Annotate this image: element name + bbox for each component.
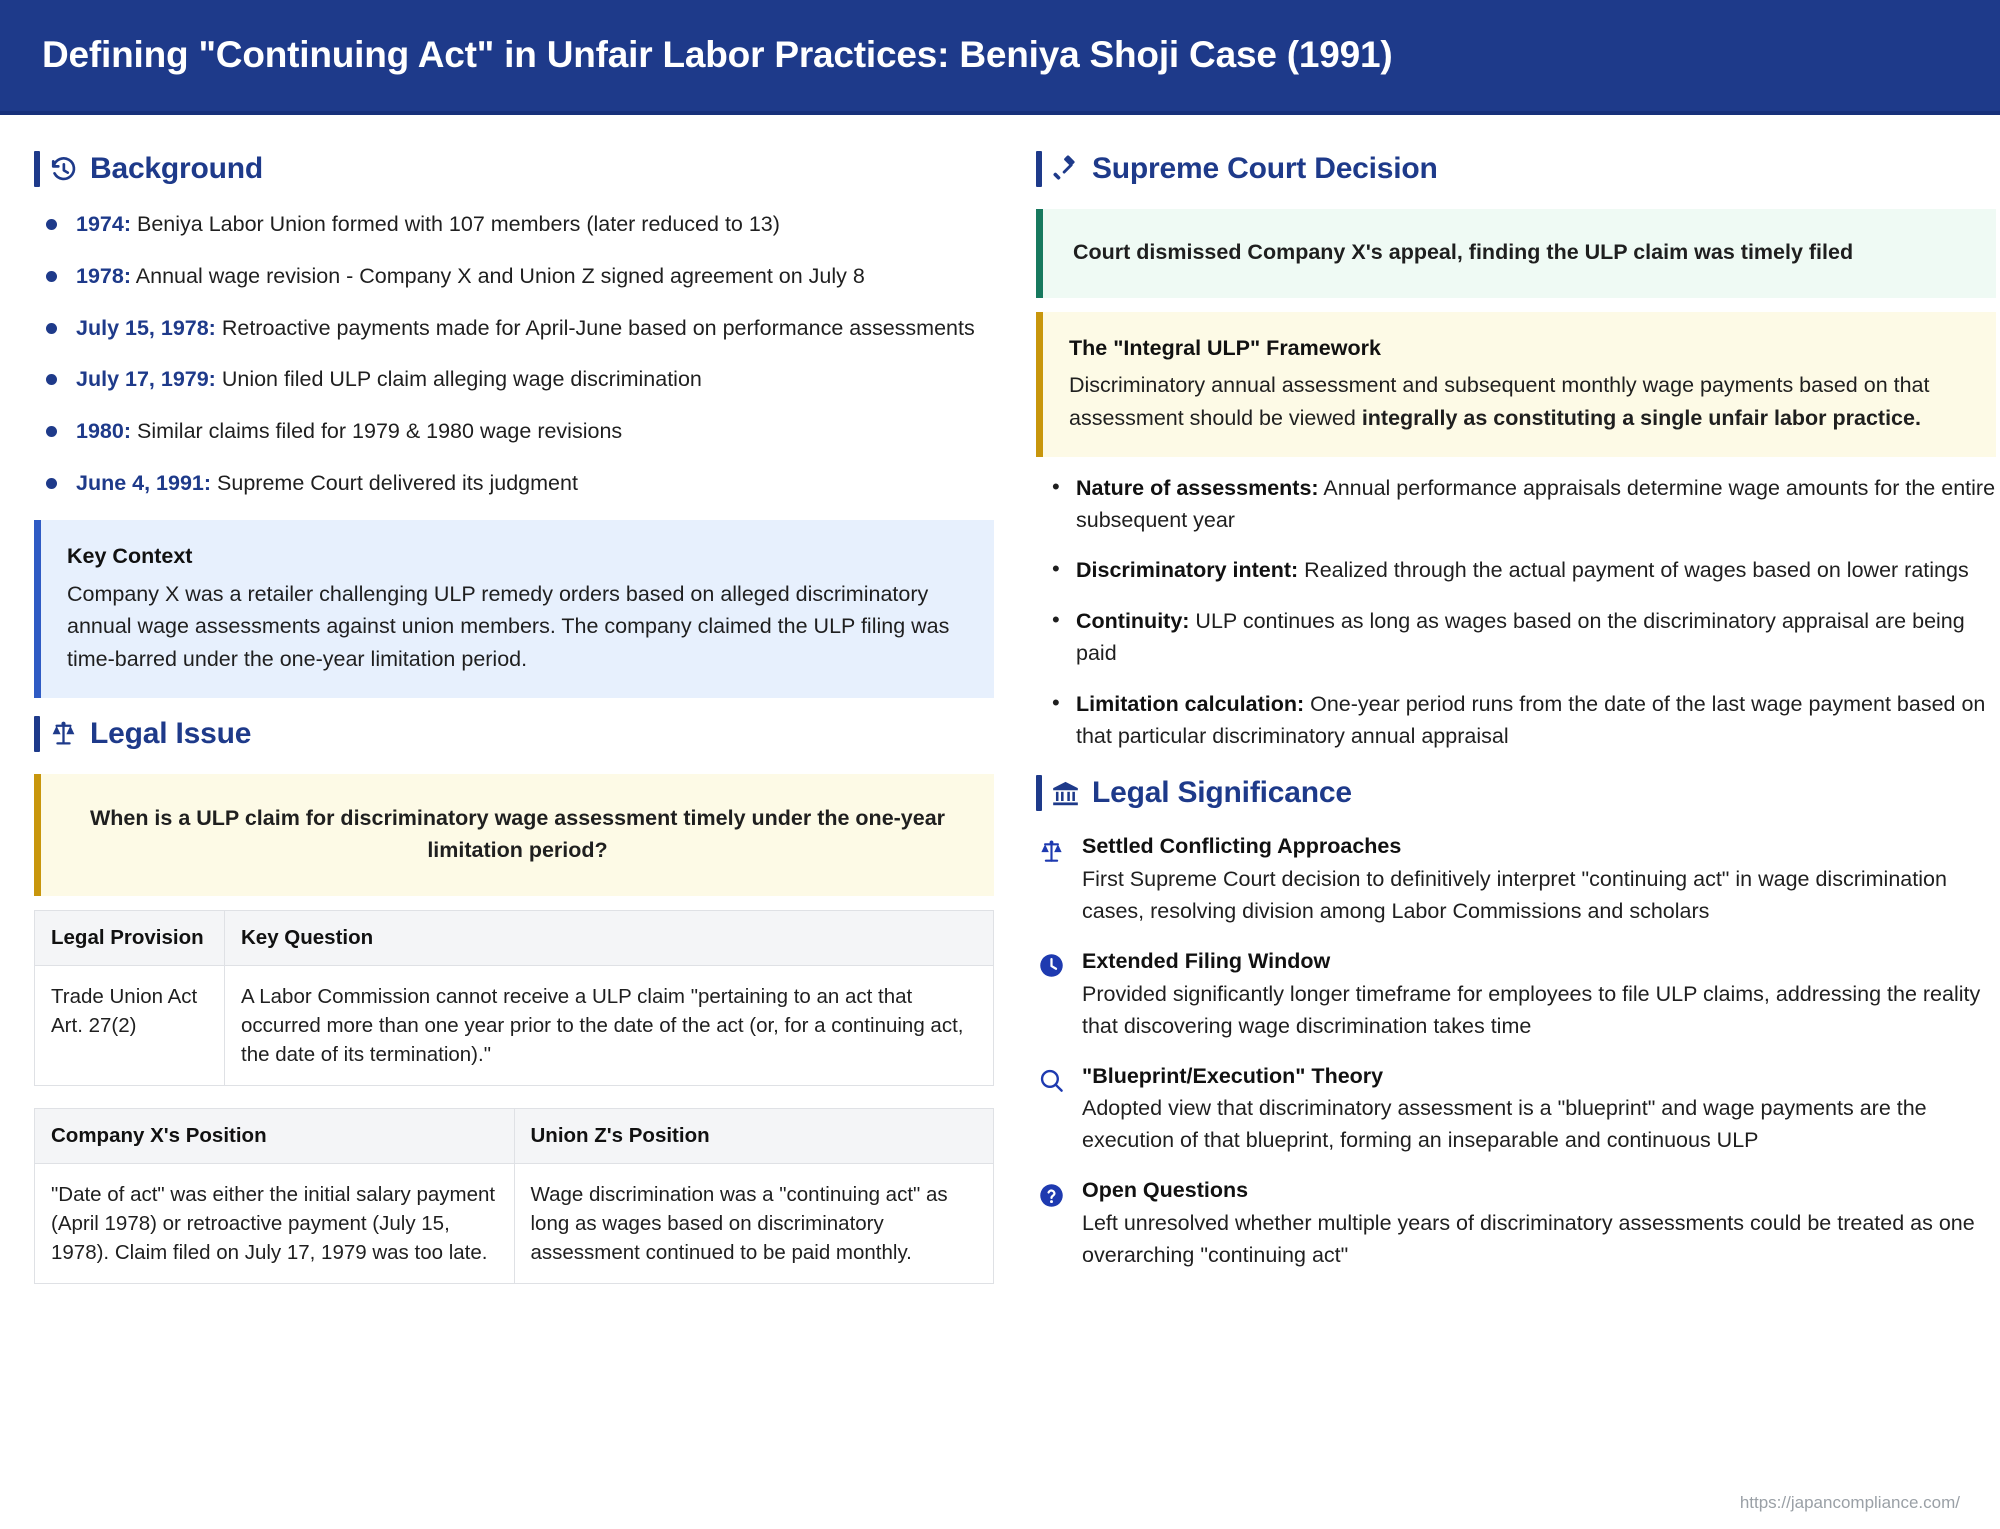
right-column: Supreme Court Decision Court dismissed C… bbox=[1036, 135, 1996, 1525]
section-title-background: Background bbox=[90, 152, 263, 186]
page-header: Defining "Continuing Act" in Unfair Labo… bbox=[0, 0, 2000, 115]
significance-description: First Supreme Court decision to definiti… bbox=[1082, 864, 1996, 928]
legal-provision-table: Legal Provision Key Question Trade Union… bbox=[34, 910, 994, 1086]
integral-ulp-framework-callout: The "Integral ULP" Framework Discriminat… bbox=[1036, 312, 1996, 457]
section-title-legal-significance: Legal Significance bbox=[1092, 776, 1352, 810]
timeline-text: Annual wage revision - Company X and Uni… bbox=[136, 264, 865, 288]
timeline-item: 1978: Annual wage revision - Company X a… bbox=[42, 261, 994, 293]
background-timeline: 1974: Beniya Labor Union formed with 107… bbox=[42, 209, 994, 500]
column-header-key-question: Key Question bbox=[225, 911, 994, 966]
cell-key-question: A Labor Commission cannot receive a ULP … bbox=[225, 965, 994, 1085]
timeline-text: Union filed ULP claim alleging wage disc… bbox=[222, 367, 702, 391]
table-row: "Date of act" was either the initial sal… bbox=[35, 1163, 994, 1283]
scales-icon bbox=[1036, 836, 1066, 866]
timeline-date: June 4, 1991: bbox=[76, 471, 211, 495]
clock-icon bbox=[1036, 951, 1066, 981]
legal-issue-question: When is a ULP claim for discriminatory w… bbox=[67, 802, 968, 867]
list-item: Discriminatory intent: Realized through … bbox=[1046, 555, 1996, 587]
significance-item: Settled Conflicting Approaches First Sup… bbox=[1036, 833, 1996, 928]
point-text: ULP continues as long as wages based on … bbox=[1076, 609, 1965, 665]
timeline-text: Supreme Court delivered its judgment bbox=[217, 471, 578, 495]
section-title-supreme-court-decision: Supreme Court Decision bbox=[1092, 152, 1438, 186]
timeline-item: 1974: Beniya Labor Union formed with 107… bbox=[42, 209, 994, 241]
framework-title: The "Integral ULP" Framework bbox=[1069, 332, 1970, 365]
list-item: Nature of assessments: Annual performanc… bbox=[1046, 473, 1996, 537]
timeline-text: Similar claims filed for 1979 & 1980 wag… bbox=[137, 419, 622, 443]
positions-table: Company X's Position Union Z's Position … bbox=[34, 1108, 994, 1284]
significance-description: Left unresolved whether multiple years o… bbox=[1082, 1208, 1996, 1272]
section-title-legal-issue: Legal Issue bbox=[90, 717, 251, 751]
column-header-union-position: Union Z's Position bbox=[514, 1109, 994, 1164]
bank-institution-icon bbox=[1050, 778, 1080, 808]
cell-union-position: Wage discrimination was a "continuing ac… bbox=[514, 1163, 994, 1283]
content-columns: Background 1974: Beniya Labor Union form… bbox=[0, 115, 2000, 1525]
section-header-supreme-court-decision: Supreme Court Decision bbox=[1036, 147, 1996, 191]
significance-item: Open Questions Left unresolved whether m… bbox=[1036, 1177, 1996, 1272]
framework-body: Discriminatory annual assessment and sub… bbox=[1069, 369, 1970, 434]
cell-company-position: "Date of act" was either the initial sal… bbox=[35, 1163, 515, 1283]
page-title: Defining "Continuing Act" in Unfair Labo… bbox=[42, 35, 1393, 76]
timeline-date: July 15, 1978: bbox=[76, 316, 216, 340]
timeline-text: Retroactive payments made for April-June… bbox=[222, 316, 975, 340]
point-label: Limitation calculation: bbox=[1076, 692, 1304, 716]
section-header-background: Background bbox=[34, 147, 994, 191]
history-clock-icon bbox=[48, 154, 78, 184]
source-url: https://japancompliance.com/ bbox=[1740, 1493, 1960, 1513]
key-context-body: Company X was a retailer challenging ULP… bbox=[67, 578, 968, 676]
significance-title: Extended Filing Window bbox=[1082, 948, 1996, 976]
table-row: Trade Union Act Art. 27(2) A Labor Commi… bbox=[35, 965, 994, 1085]
timeline-item: July 15, 1978: Retroactive payments made… bbox=[42, 313, 994, 345]
table-header-row: Legal Provision Key Question bbox=[35, 911, 994, 966]
timeline-item: July 17, 1979: Union filed ULP claim all… bbox=[42, 364, 994, 396]
list-item: Continuity: ULP continues as long as wag… bbox=[1046, 606, 1996, 670]
timeline-date: 1978: bbox=[76, 264, 131, 288]
table-header-row: Company X's Position Union Z's Position bbox=[35, 1109, 994, 1164]
significance-item: Extended Filing Window Provided signific… bbox=[1036, 948, 1996, 1043]
framework-body-bold: integrally as constituting a single unfa… bbox=[1362, 406, 1921, 430]
key-context-callout: Key Context Company X was a retailer cha… bbox=[34, 520, 994, 698]
infographic-page: Defining "Continuing Act" in Unfair Labo… bbox=[0, 0, 2000, 1529]
legal-issue-question-callout: When is a ULP claim for discriminatory w… bbox=[34, 774, 994, 897]
timeline-date: 1974: bbox=[76, 212, 131, 236]
significance-text: Extended Filing Window Provided signific… bbox=[1082, 948, 1996, 1043]
gavel-icon bbox=[1050, 154, 1080, 184]
question-circle-icon bbox=[1036, 1180, 1066, 1210]
significance-text: "Blueprint/Execution" Theory Adopted vie… bbox=[1082, 1063, 1996, 1158]
key-context-title: Key Context bbox=[67, 540, 968, 573]
decision-key-points: Nature of assessments: Annual performanc… bbox=[1046, 473, 1996, 753]
point-label: Nature of assessments: bbox=[1076, 476, 1319, 500]
significance-title: "Blueprint/Execution" Theory bbox=[1082, 1063, 1996, 1091]
significance-item: "Blueprint/Execution" Theory Adopted vie… bbox=[1036, 1063, 1996, 1158]
holding-text: Court dismissed Company X's appeal, find… bbox=[1069, 229, 1970, 276]
timeline-date: 1980: bbox=[76, 419, 131, 443]
magnifier-icon bbox=[1036, 1066, 1066, 1096]
timeline-text: Beniya Labor Union formed with 107 membe… bbox=[137, 212, 780, 236]
column-header-legal-provision: Legal Provision bbox=[35, 911, 225, 966]
point-label: Discriminatory intent: bbox=[1076, 558, 1298, 582]
scales-icon bbox=[48, 719, 78, 749]
holding-callout: Court dismissed Company X's appeal, find… bbox=[1036, 209, 1996, 298]
significance-description: Adopted view that discriminatory assessm… bbox=[1082, 1093, 1996, 1157]
column-header-company-position: Company X's Position bbox=[35, 1109, 515, 1164]
timeline-item: June 4, 1991: Supreme Court delivered it… bbox=[42, 468, 994, 500]
significance-title: Open Questions bbox=[1082, 1177, 1996, 1205]
section-header-legal-issue: Legal Issue bbox=[34, 712, 994, 756]
significance-text: Settled Conflicting Approaches First Sup… bbox=[1082, 833, 1996, 928]
timeline-item: 1980: Similar claims filed for 1979 & 19… bbox=[42, 416, 994, 448]
cell-legal-provision: Trade Union Act Art. 27(2) bbox=[35, 965, 225, 1085]
significance-description: Provided significantly longer timeframe … bbox=[1082, 979, 1996, 1043]
timeline-date: July 17, 1979: bbox=[76, 367, 216, 391]
point-text: Realized through the actual payment of w… bbox=[1298, 558, 1969, 582]
section-header-legal-significance: Legal Significance bbox=[1036, 771, 1996, 815]
list-item: Limitation calculation: One-year period … bbox=[1046, 689, 1996, 753]
significance-title: Settled Conflicting Approaches bbox=[1082, 833, 1996, 861]
significance-text: Open Questions Left unresolved whether m… bbox=[1082, 1177, 1996, 1272]
left-column: Background 1974: Beniya Labor Union form… bbox=[34, 135, 994, 1525]
point-label: Continuity: bbox=[1076, 609, 1189, 633]
